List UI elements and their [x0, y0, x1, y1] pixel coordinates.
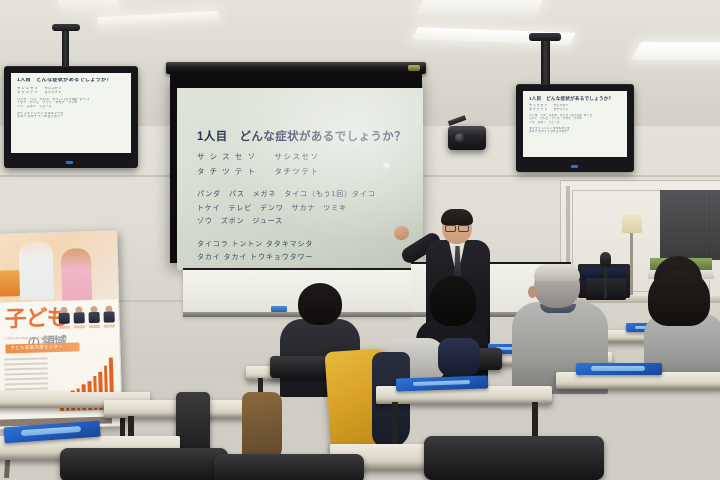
slide-title: 1人目 どんな症状があるでしょうか？: [197, 128, 411, 144]
monitor-right-panel: 1人目 どんな症状があるでしょうか？ サ シ ス セ ソ サシスセソ タ チ ツ…: [523, 91, 627, 157]
slide-word-row: パンダ パス メガネ タイコ（もう1回）タイコ: [197, 189, 411, 199]
poster-portrait-row: [58, 305, 115, 335]
monitor-right-slide-title: 1人目 どんな症状があるでしょうか？: [529, 96, 621, 101]
monitor-left-panel: 1人目 どんな症状があるでしょうか？ サ シ ス セ ソ サシスセソ タ チ ツ…: [11, 73, 131, 153]
screen-roller-endcap: [408, 65, 420, 71]
slide-word-row: トケイ テレビ デンワ サカナ ツミキ: [197, 203, 411, 213]
poster-photo-adult: [19, 241, 55, 300]
monitor-power-led: [66, 161, 73, 164]
navy-bag: [438, 338, 480, 376]
poster-portrait: [58, 307, 70, 327]
chair: [214, 454, 364, 480]
monitor-right-slide-row: タ チ ツ テ ト タチツテト: [529, 108, 621, 111]
projection-screen-border: 1人目 どんな症状があるでしょうか？ サ シ ス セ ソ サシスセソ タ チ ツ…: [170, 73, 422, 263]
slide-word-row: ゾウ ズボン ジュース: [197, 216, 411, 226]
poster-photo-child: [61, 248, 92, 301]
poster-portrait: [73, 306, 85, 326]
slide-phrase-row: タカイ タカイ トウキョウタワー: [197, 252, 411, 262]
ceiling-projector: [448, 126, 486, 150]
audience-head: [430, 276, 476, 326]
audience-hair: [534, 264, 580, 281]
equipment-rack: [660, 190, 720, 260]
presenter-hair: [441, 209, 473, 225]
monitor-power-led: [571, 165, 578, 168]
desk-lamp-shade: [622, 215, 642, 233]
monitor-left-slide-row: タ チ ツ テ ト タチツテト: [17, 91, 125, 95]
lecture-room-photo: 1人目 どんな症状があるでしょうか？ サ シ ス セ ソ サシスセソ タ チ ツ…: [0, 0, 720, 480]
brown-bag: [242, 392, 282, 462]
projection-screen-assembly: 1人目 どんな症状があるでしょうか？ サ シ ス セ ソ サシスセソ タ チ ツ…: [166, 62, 426, 270]
monitor-mount-pole-right: [541, 36, 550, 86]
monitor-right-phrase-row: タカイ タカイ トウキョウタワー: [529, 130, 621, 133]
slide-phrase-row: タイコラ トントン タタキマシタ: [197, 239, 411, 249]
ceiling-light-icon: [631, 42, 720, 60]
slide-content: 1人目 どんな症状があるでしょうか？ サ シ ス セ ソ サシスセソ タ チ ツ…: [197, 128, 411, 266]
poster-photo: [0, 231, 118, 302]
ceiling-light-icon: [417, 0, 544, 14]
monitor-left-phrase-row: タカイ タカイ トウキョウタワー: [17, 115, 125, 119]
monitor-right-word-row: ゾウ ズボン ジュース: [529, 121, 621, 124]
audience-head: [298, 283, 342, 325]
audience-hair: [648, 270, 710, 326]
poster-photo-toy: [0, 270, 20, 297]
wall-monitor-right: 1人目 どんな症状があるでしょうか？ サ シ ス セ ソ サシスセソ タ チ ツ…: [516, 84, 634, 172]
slide-kana-row: タ チ ツ テ ト タチツテト: [197, 166, 411, 177]
blue-folder: [576, 363, 662, 375]
screen-light-hotspot: [382, 161, 391, 170]
desk-lamp-arm: [630, 233, 633, 295]
monitor-mount-bracket-left: [52, 24, 80, 31]
slide-kana-row: サ シ ス セ ソ サシスセソ: [197, 151, 411, 162]
monitor-left-slide-title: 1人目 どんな症状があるでしょうか？: [17, 78, 125, 84]
chair: [60, 448, 228, 480]
ceiling-light-icon: [58, 0, 123, 10]
chair: [424, 436, 604, 480]
monitor-mount-pole-left: [62, 26, 69, 68]
monitor-left-word-row: ゾウ ズボン ジュース: [17, 105, 125, 109]
poster-portrait: [88, 306, 100, 326]
audience-member-far-right: [640, 256, 720, 376]
eyeglasses-icon: [445, 225, 469, 230]
wall-monitor-left: 1人目 どんな症状があるでしょうか？ サ シ ス セ ソ サシスセソ タ チ ツ…: [4, 66, 138, 168]
projector-lens-icon: [455, 133, 465, 142]
monitor-mount-bracket-right: [529, 33, 561, 41]
poster-portrait: [103, 305, 115, 325]
projection-screen-surface: 1人目 どんな症状があるでしょうか？ サ シ ス セ ソ サシスセソ タ チ ツ…: [177, 88, 423, 270]
audience-ear: [528, 286, 537, 298]
